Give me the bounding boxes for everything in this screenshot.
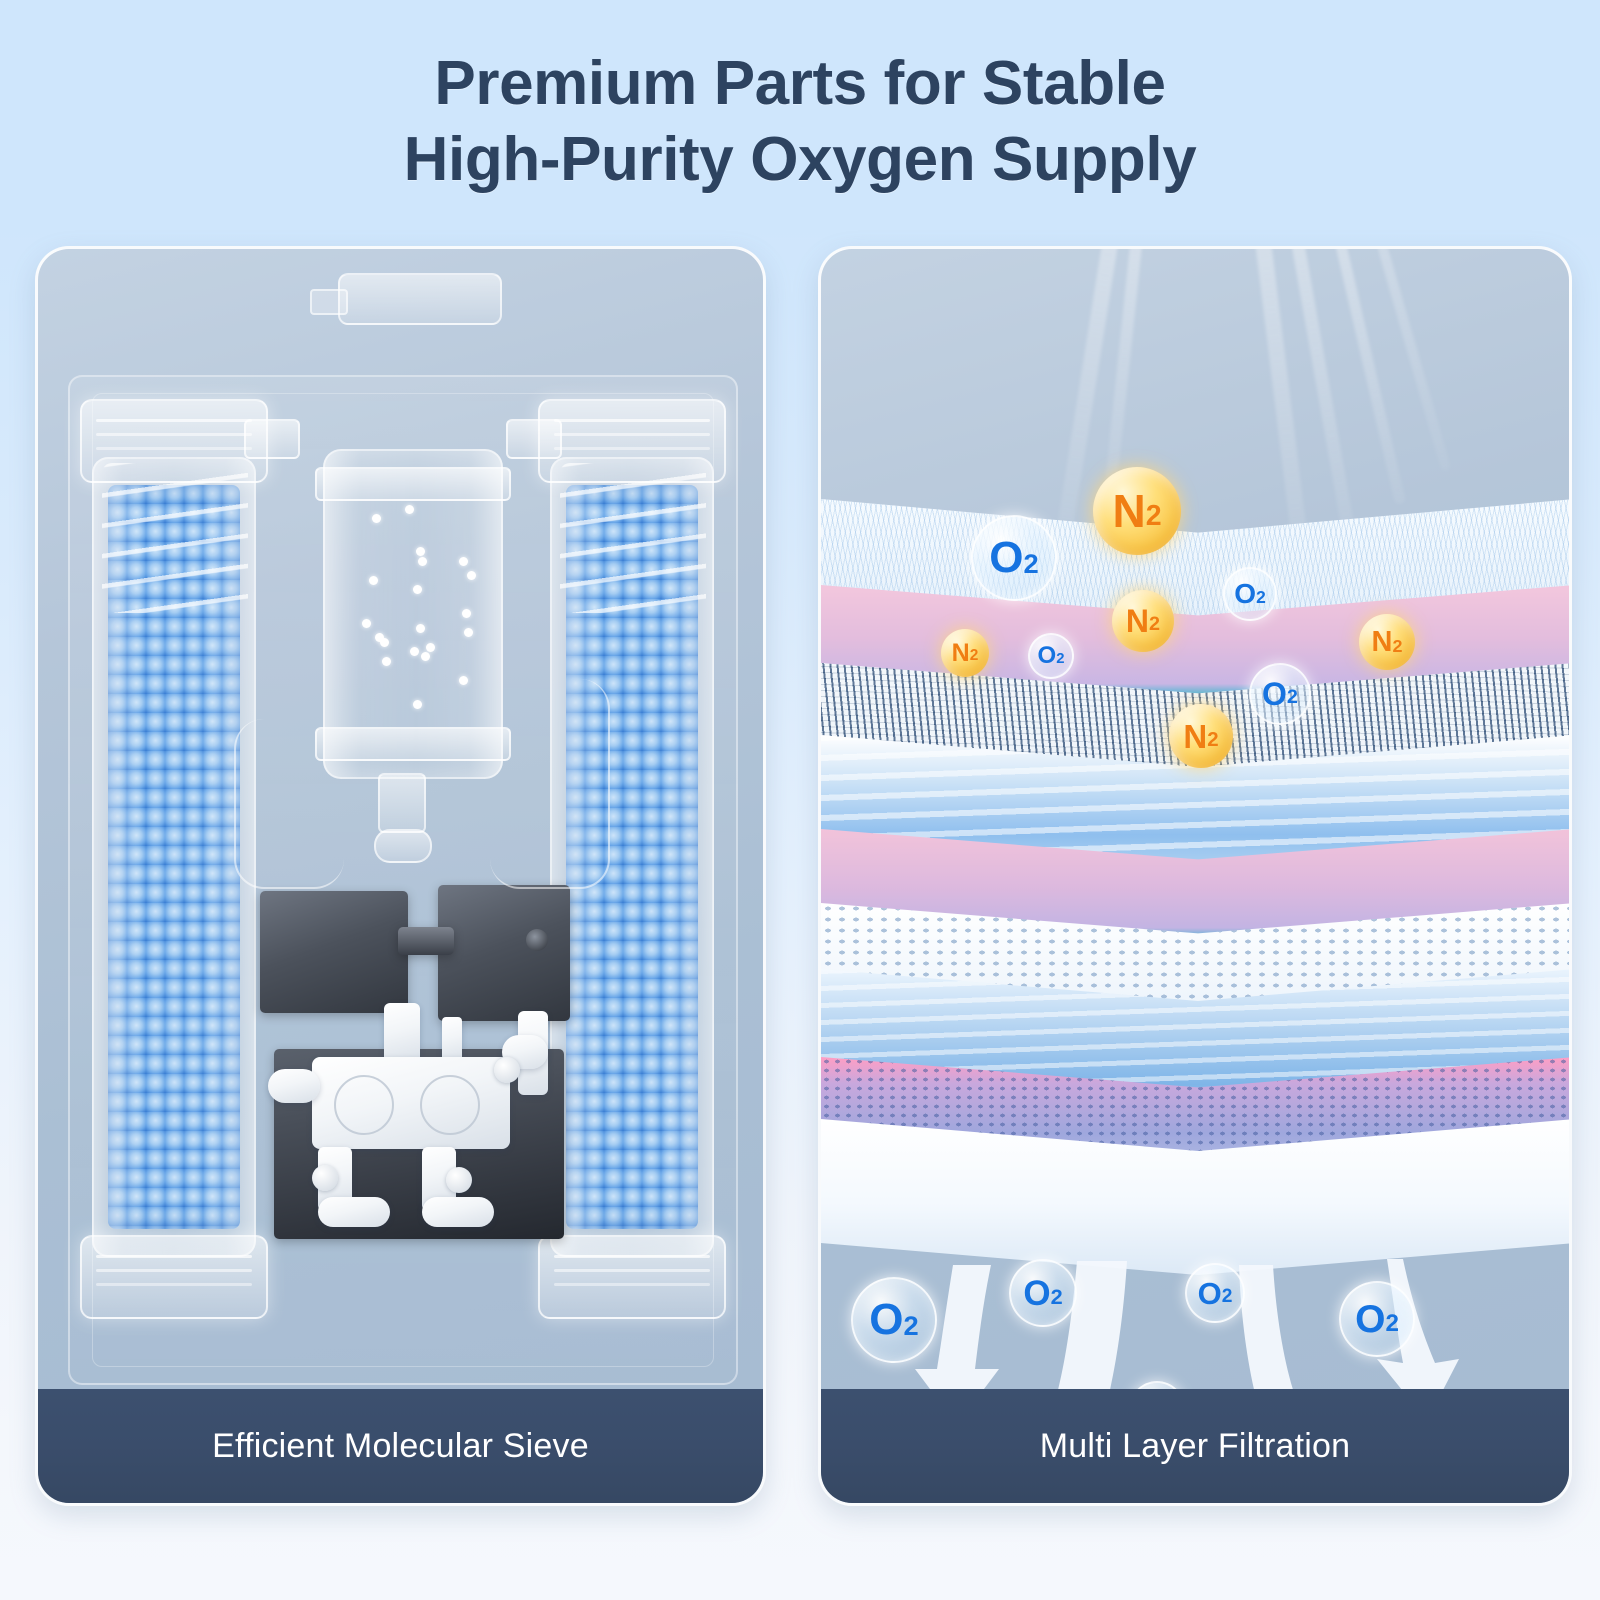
molecule-n2-4: N2 [1359,614,1415,670]
molecule-n2-3-label: N [952,641,970,666]
molecule-o2-out-2-sub: 2 [1051,1286,1063,1308]
molecule-o2-1: O2 [971,515,1057,601]
molecule-o2-out-2-label: O [1023,1276,1050,1311]
molecule-o2-3-label: O [1038,644,1057,668]
canister-cap-top-left [80,399,268,483]
compressor-valve-assembly [256,861,576,1271]
molecule-o2-out-1-label: O [869,1298,903,1342]
molecule-n2-2: N2 [1112,590,1174,652]
outlet-elbow-bottom-left [318,1197,390,1227]
molecule-o2-3: O2 [1028,633,1074,679]
elbow-fitting-left [268,1069,320,1103]
motor-block-left [260,891,408,1013]
tubing-run-right [490,679,610,889]
valve-manifold-block [312,1057,510,1149]
push-fitting-bottom-right [446,1167,472,1193]
feature-card-grid: Efficient Molecular Sieve [0,246,1600,1516]
molecule-n2-1: N2 [1093,467,1181,555]
molecule-o2-2-sub: 2 [1256,589,1266,606]
filtration-diagram: N2 N2 N2 N2 N2 N2 O2 [821,249,1569,1389]
air-particle-dots [349,495,477,733]
molecule-n2-2-label: N [1126,605,1149,637]
molecule-o2-out-1-sub: 2 [904,1312,919,1339]
push-fitting-bottom-left [312,1165,338,1191]
molecule-o2-4-label: O [1262,678,1287,710]
molecule-n2-6-sub: 2 [877,509,881,516]
title-line-2: High-Purity Oxygen Supply [0,122,1600,198]
accumulator-coupler [374,829,432,863]
molecule-o2-2: O2 [1223,567,1277,621]
molecule-o2-out-1: O2 [851,1277,937,1363]
molecule-n2-2-sub: 2 [1149,615,1160,635]
molecule-o2-4: O2 [1249,663,1311,725]
canister-cap-bottom-left [80,1235,268,1319]
molecule-n2-1-sub: 2 [1146,502,1162,531]
canister-cap-top-right [538,399,726,483]
card-caption-molecular-sieve: Efficient Molecular Sieve [38,1389,763,1503]
molecule-n2-4-label: N [1372,628,1393,657]
molecule-o2-1-label: O [989,536,1023,580]
outlet-elbow-bottom-right [422,1197,494,1227]
tubing-run-left [234,719,344,889]
molecule-n2-5: N2 [1169,704,1233,768]
molecule-o2-4-sub: 2 [1287,688,1298,708]
multi-layer-filtration-illustration: N2 N2 N2 N2 N2 N2 O2 [821,249,1569,1389]
card-caption-multi-layer-filtration: Multi Layer Filtration [821,1389,1569,1503]
card-caption-text: Efficient Molecular Sieve [212,1427,589,1466]
card-multi-layer-filtration[interactable]: N2 N2 N2 N2 N2 N2 O2 [818,246,1572,1506]
molecule-n2-3: N2 [941,629,989,677]
molecule-o2-out-3-sub: 2 [1222,1287,1233,1306]
motor-port-hole [526,929,548,951]
molecule-o2-out-4: O2 [1339,1281,1415,1357]
top-valve-ghost [338,273,502,325]
valve-stem [384,1003,420,1063]
filter-layer-stack [821,499,1569,1319]
oxygen-output-arrows: O2 O2 O2 O2 O2 [821,1259,1569,1389]
molecule-o2-3-sub: 2 [1056,652,1064,667]
molecule-n2-4-sub: 2 [1392,637,1402,655]
push-fitting-right [494,1057,520,1083]
molecule-o2-2-label: O [1234,580,1256,608]
motor-block-right [438,885,570,1021]
coil-spring-left [102,463,248,613]
title-line-1: Premium Parts for Stable [0,46,1600,122]
card-efficient-molecular-sieve[interactable]: Efficient Molecular Sieve [35,246,766,1506]
molecular-sieve-illustration [38,249,763,1389]
molecule-o2-out-3-label: O [1198,1278,1222,1309]
canister-nozzle-left [244,419,300,459]
molecule-o2-out-4-label: O [1355,1300,1385,1339]
page-title: Premium Parts for Stable High-Purity Oxy… [0,46,1600,198]
accumulator-cylinder [323,449,503,779]
molecule-n2-5-sub: 2 [1207,730,1218,750]
canister-nozzle-right [506,419,562,459]
molecule-o2-out-3: O2 [1185,1263,1245,1323]
molecule-o2-out-2: O2 [1009,1259,1077,1327]
molecule-n2-3-sub: 2 [970,648,979,664]
molecule-n2-6-label: N [869,506,877,517]
sieve-assembly [38,249,763,1389]
coil-spring-right [560,463,706,613]
card-caption-text: Multi Layer Filtration [1040,1427,1351,1466]
molecule-n2-5-label: N [1183,720,1207,753]
molecule-o2-out-4-sub: 2 [1385,1312,1398,1336]
molecule-n2-1-label: N [1112,488,1145,534]
motor-shaft [398,927,454,955]
molecule-o2-1-sub: 2 [1024,550,1039,577]
accumulator-outlet-neck [378,773,426,833]
